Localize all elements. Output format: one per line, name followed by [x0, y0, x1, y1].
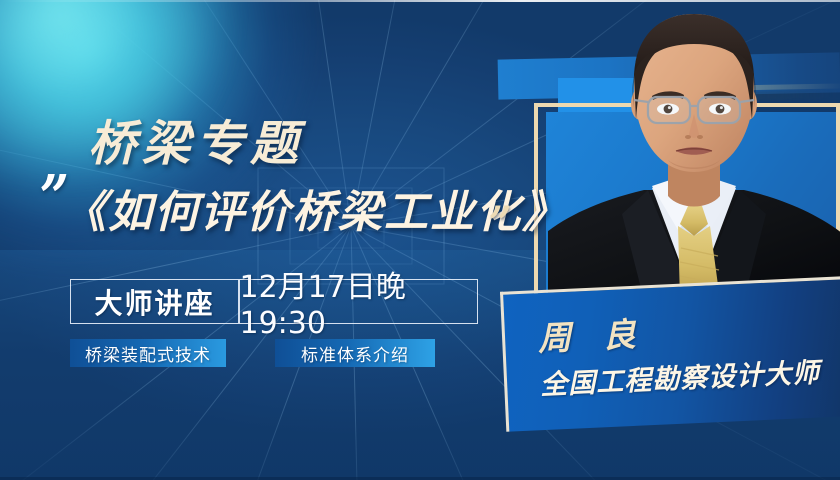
quote-close-mark: ” [489, 200, 511, 246]
lecture-series-label: 大师讲座 [71, 280, 238, 323]
top-edge-highlight [0, 0, 840, 2]
webinar-poster: 周 良 全国工程勘察设计大师 桥梁专题 ” 《如何评价桥梁工业化》 ” 大师讲座… [0, 0, 840, 480]
speaker-hero: 周 良 全国工程勘察设计大师 [0, 0, 840, 480]
speaker-portrait [548, 0, 840, 300]
topic-tag-list: 桥梁装配式技术 标准体系介绍 [70, 339, 435, 367]
lecture-datetime: 12月17日晚19:30 [240, 280, 478, 323]
topic-tag: 标准体系介绍 [275, 339, 435, 367]
topic-tag: 桥梁装配式技术 [70, 339, 226, 367]
tag-spacer [226, 339, 275, 367]
lecture-info-box: 大师讲座 12月17日晚19:30 [70, 279, 478, 324]
page-title: 桥梁专题 [88, 104, 304, 174]
speaker-nameplate-text: 周 良 全国工程勘察设计大师 [500, 276, 840, 431]
